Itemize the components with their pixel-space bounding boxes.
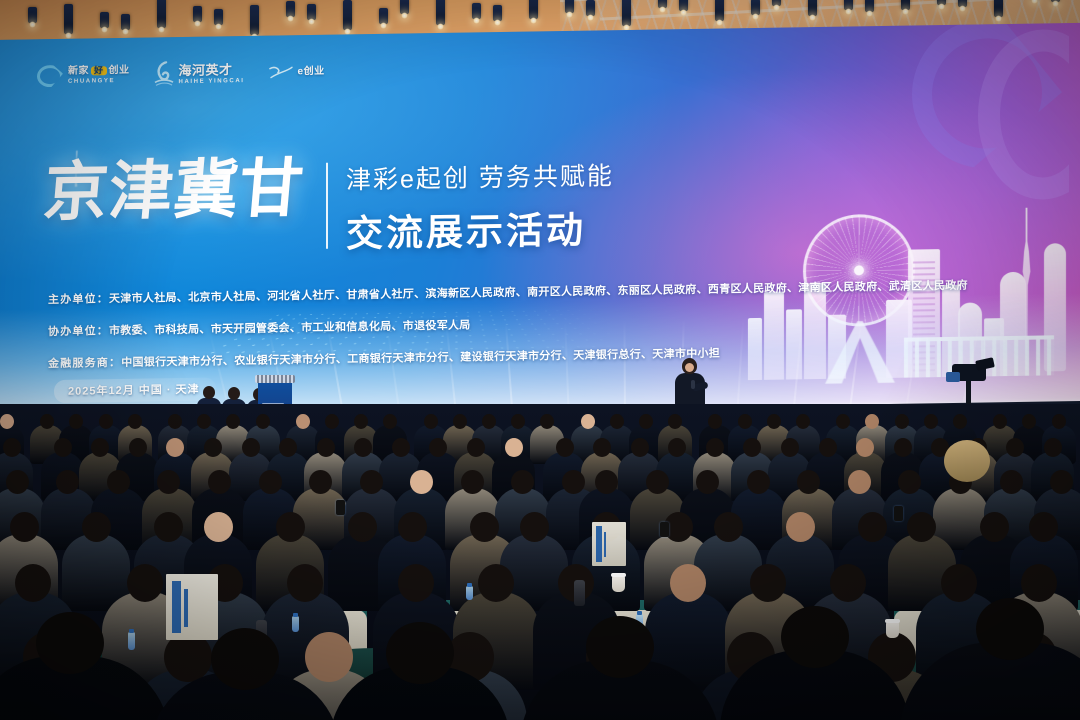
foreground-head <box>976 598 1044 660</box>
audience-head <box>668 414 682 429</box>
audience-head <box>706 438 724 457</box>
organizer-value: 天津市人社局、北京市人社局、河北省人社厅、甘肃省人社厅、滨海新区人民政府、南开区… <box>109 280 968 305</box>
audience-head <box>383 414 397 429</box>
stage-light-icon <box>100 12 109 28</box>
paper-cup <box>886 622 899 638</box>
audience-head <box>305 632 353 682</box>
audience-head <box>520 512 549 542</box>
stage-light-icon <box>157 0 166 28</box>
audience-head <box>1000 470 1023 494</box>
water-bottle <box>128 632 135 650</box>
audience-head <box>40 414 54 429</box>
stage-light-icon <box>865 0 874 12</box>
audience-head <box>708 414 722 429</box>
audience-head <box>556 438 574 457</box>
audience-head <box>836 414 850 429</box>
stage-light-icon <box>28 7 37 23</box>
stage-light-icon <box>772 0 781 6</box>
audience-head <box>738 414 752 429</box>
audience-head <box>797 470 820 494</box>
screen-artwork-text: 新家好创业 CHUANGYE 海河英才 HAIHE YINGCAI <box>0 23 1080 430</box>
swoosh-icon <box>37 65 63 87</box>
tote-bag <box>592 522 626 566</box>
audience-head <box>898 470 921 494</box>
audience-head <box>750 564 786 602</box>
organizer-value: 市教委、市科技局、市天开园管委会、市工业和信息化局、市退役军人局 <box>109 319 471 337</box>
organizer-line: 金融服务商：中国银行天津市分行、农业银行天津市分行、工商银行天津市分行、建设银行… <box>48 341 968 371</box>
event-title-main: 京津冀甘 <box>41 157 307 225</box>
hostess-head <box>228 387 240 400</box>
audience-head <box>461 470 484 494</box>
audience-head <box>354 438 372 457</box>
water-bottle <box>292 616 299 632</box>
led-backdrop-screen: 新家好创业 CHUANGYE 海河英才 HAIHE YINGCAI <box>0 23 1080 430</box>
audience-head <box>595 470 618 494</box>
stage-light-icon <box>715 0 724 21</box>
audience-head <box>478 564 514 602</box>
logo-en: CHUANGYE <box>68 78 130 85</box>
audience-head <box>309 470 332 494</box>
sponsor-logo-row: 新家好创业 CHUANGYE 海河英才 HAIHE YINGCAI <box>37 59 325 90</box>
audience-head <box>256 414 270 429</box>
banner-top-bar <box>255 375 295 383</box>
stage-light-icon <box>622 0 631 26</box>
stage-light-icon <box>586 0 595 16</box>
audience-head <box>470 512 499 542</box>
audience-head <box>562 470 585 494</box>
microphone-icon <box>691 380 695 389</box>
audience-head <box>830 564 866 602</box>
audience-head <box>593 438 611 457</box>
audience-head <box>3 438 21 457</box>
audience-head <box>276 512 305 542</box>
audience-head <box>354 414 368 429</box>
thermos-flask <box>574 580 585 606</box>
organizer-label: 主办单位： <box>48 293 109 306</box>
audience-head <box>91 438 109 457</box>
audience-head <box>127 564 163 602</box>
audience-head <box>69 414 83 429</box>
stage-light-icon <box>679 0 688 11</box>
audience-head <box>168 414 182 429</box>
seated-audience <box>0 404 1080 720</box>
audience-head <box>317 438 335 457</box>
audience-head <box>0 414 14 429</box>
foreground-head <box>211 628 279 690</box>
audience-head <box>639 414 653 429</box>
audience-head <box>154 512 183 542</box>
stage-light-icon <box>493 5 502 21</box>
audience-head <box>610 414 624 429</box>
audience-head <box>894 438 912 457</box>
audience-head <box>924 414 938 429</box>
audience-head <box>581 414 595 429</box>
stage-light-icon <box>808 0 817 16</box>
audience-head <box>82 512 111 542</box>
audience-head <box>747 470 770 494</box>
stage-light-icon <box>121 14 130 30</box>
audience-head <box>392 438 410 457</box>
audience-head <box>129 438 147 457</box>
logo-en: HAIHE YINGCAI <box>179 78 245 85</box>
organizer-line: 主办单位：天津市人社局、北京市人社局、河北省人社厅、甘肃省人社厅、滨海新区人民政… <box>48 277 968 307</box>
audience-head <box>895 414 909 429</box>
audience-head <box>279 438 297 457</box>
speaker-face <box>685 363 694 372</box>
audience-head <box>540 414 554 429</box>
audience-head <box>429 438 447 457</box>
audience-head <box>646 470 669 494</box>
audience-head <box>819 438 837 457</box>
stage-light-icon <box>250 5 259 35</box>
audience-head <box>907 512 936 542</box>
organizer-label: 协办单位： <box>48 325 109 338</box>
audience-head <box>99 414 113 429</box>
audience-head <box>242 438 260 457</box>
audience-head <box>296 414 310 429</box>
hostess-head <box>203 386 215 399</box>
title-divider <box>326 163 328 249</box>
audience-head <box>781 438 799 457</box>
audience-head <box>360 470 383 494</box>
audience-head <box>348 512 377 542</box>
audience-head <box>54 438 72 457</box>
event-title-block: 京津冀甘 津彩e起创 劳务共赋能 交流展示活动 <box>44 152 614 262</box>
camera-lens-hood <box>975 357 995 371</box>
conference-hall-photo: 新家好创业 CHUANGYE 海河英才 HAIHE YINGCAI <box>0 0 1080 720</box>
wave-icon <box>154 61 174 87</box>
audience-head <box>786 512 815 542</box>
audience-head <box>424 414 438 429</box>
audience-head <box>953 414 967 429</box>
stage-light-icon <box>343 0 352 30</box>
stage-light-icon <box>193 6 202 22</box>
stage-light-icon <box>307 4 316 20</box>
audience-head <box>208 470 231 494</box>
audience-head <box>941 564 977 602</box>
audience-head <box>743 438 761 457</box>
tote-bag <box>166 574 218 640</box>
logo-chuangye: 新家好创业 CHUANGYE <box>37 64 130 87</box>
audience-head <box>696 470 719 494</box>
logo-echuangye: e创业 <box>269 64 325 81</box>
event-subtitle-main: 交流展示活动 <box>346 199 614 257</box>
stage-light-icon <box>286 1 295 17</box>
audience-head <box>287 564 323 602</box>
audience-head <box>166 438 184 457</box>
audience-head <box>15 564 51 602</box>
audience-head <box>398 564 434 602</box>
audience-head <box>511 470 534 494</box>
stage-light-icon <box>565 0 574 13</box>
smartphone <box>660 522 669 537</box>
audience-head <box>858 512 887 542</box>
audience-head <box>56 470 79 494</box>
audience-head <box>670 564 706 602</box>
audience-head <box>668 438 686 457</box>
beanie-hat <box>944 440 990 482</box>
organizer-value: 中国银行天津市分行、农业银行天津市分行、工商银行天津市分行、建设银行天津市分行、… <box>121 348 720 369</box>
foreground-head <box>36 612 104 674</box>
audience-head <box>767 414 781 429</box>
stage-light-icon <box>901 0 910 10</box>
stage-light-icon <box>214 9 223 25</box>
audience-head <box>325 414 339 429</box>
organizer-label: 金融服务商： <box>48 357 121 370</box>
audience-head <box>796 414 810 429</box>
audience-head <box>1029 512 1058 542</box>
audience-head <box>453 414 467 429</box>
smartphone <box>336 500 345 515</box>
audience-head <box>714 512 743 542</box>
audience-head <box>1021 564 1057 602</box>
audience-head <box>259 470 282 494</box>
audience-head <box>993 414 1007 429</box>
stage-light-icon <box>64 4 73 34</box>
camera-monitor <box>946 372 960 382</box>
audience-head <box>204 438 222 457</box>
stage-light-icon <box>844 0 853 10</box>
stage-light-icon <box>529 0 538 19</box>
audience-head <box>157 470 180 494</box>
audience-head <box>482 414 496 429</box>
audience-head <box>1044 438 1062 457</box>
stage-light-icon <box>658 0 667 8</box>
audience-head <box>467 438 485 457</box>
audience-head <box>107 470 130 494</box>
audience-head <box>128 414 142 429</box>
audience-head <box>631 438 649 457</box>
audience-head <box>511 414 525 429</box>
audience-head <box>980 512 1009 542</box>
water-bottle <box>466 586 473 600</box>
organizer-line: 协办单位：市教委、市科技局、市天开园管委会、市工业和信息化局、市退役军人局 <box>48 309 968 339</box>
ribbon-icon <box>269 64 293 80</box>
audience-head <box>10 512 39 542</box>
paper-cup <box>612 576 625 592</box>
audience-head <box>226 414 240 429</box>
audience-head <box>1022 414 1036 429</box>
audience-head <box>6 470 29 494</box>
stage-light-icon <box>472 3 481 19</box>
foreground-head <box>586 616 654 678</box>
audience-head <box>1050 470 1073 494</box>
audience-head <box>865 414 879 429</box>
audience-head <box>1006 438 1024 457</box>
stage-light-icon <box>937 0 946 5</box>
foreground-head <box>781 606 849 668</box>
audience-head <box>505 438 523 457</box>
foreground-head <box>386 622 454 684</box>
event-subtitle-slogan: 津彩e起创 劳务共赋能 <box>346 156 614 196</box>
stage-light-icon <box>400 0 409 14</box>
audience-head <box>410 470 433 494</box>
audience-head <box>197 414 211 429</box>
logo-cn-part2: 创业 <box>109 65 130 76</box>
stage-light-icon <box>994 0 1003 17</box>
logo-cn-part1: 新家 <box>68 65 89 76</box>
stage-light-icon <box>379 8 388 24</box>
audience-head <box>204 512 233 542</box>
event-date-badge: 2025年12月 中国 · 天津 <box>54 377 216 403</box>
audience-head <box>1052 414 1066 429</box>
audience-head <box>398 512 427 542</box>
stage-light-icon <box>958 0 967 7</box>
stage-light-icon <box>751 0 760 15</box>
logo-cn: 海河英才 <box>179 63 245 77</box>
logo-haihe-yingcai: 海河英才 HAIHE YINGCAI <box>154 60 245 87</box>
organizer-lines: 主办单位：天津市人社局、北京市人社局、河北省人社厅、甘肃省人社厅、滨海新区人民政… <box>48 277 968 387</box>
stage-light-icon <box>436 0 445 25</box>
smartphone <box>894 506 903 521</box>
stage-light-icon <box>1051 0 1060 2</box>
audience-head <box>856 438 874 457</box>
audience-head <box>848 470 871 494</box>
logo-badge: 好 <box>91 66 107 75</box>
logo-cn: e创业 <box>298 67 325 77</box>
